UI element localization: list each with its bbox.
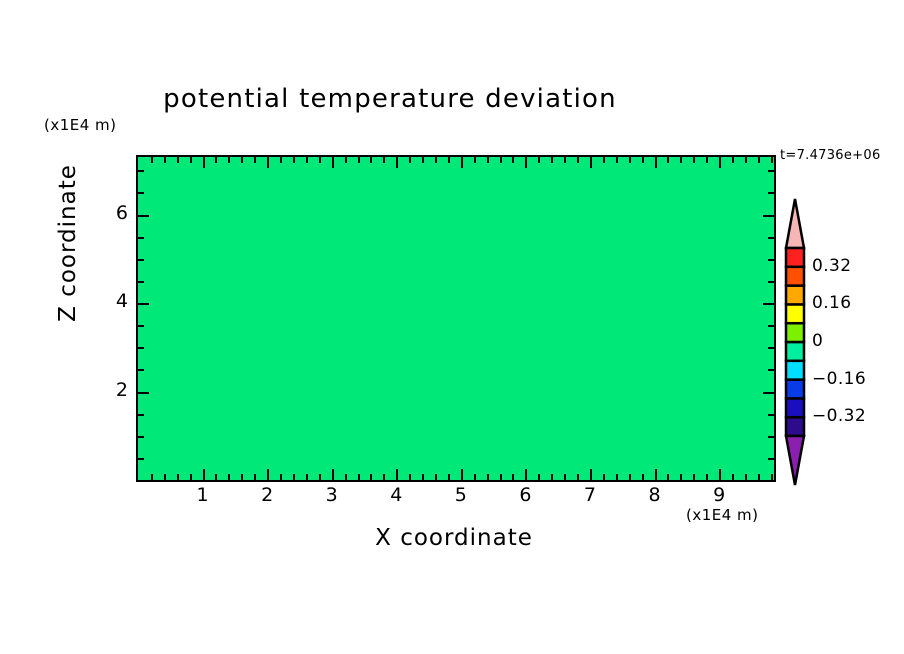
colorbar-band	[786, 267, 804, 286]
x-tick-label: 9	[699, 484, 739, 506]
y-tick-label: 4	[88, 290, 128, 312]
colorbar-band	[786, 304, 804, 323]
colorbar-band	[786, 398, 804, 417]
x-tick-label: 3	[312, 484, 352, 506]
y-tick-label: 6	[88, 202, 128, 224]
z-axis-unit-label: (x1E4 m)	[44, 116, 117, 134]
colorbar-band	[786, 380, 804, 399]
x-tick-label: 5	[441, 484, 481, 506]
contour-field-canvas	[138, 157, 774, 480]
y-axis-title: Z coordinate	[55, 153, 81, 333]
colorbar-band	[786, 286, 804, 305]
colorbar-tick-label: 0.32	[812, 256, 851, 276]
y-tick-label: 2	[88, 379, 128, 401]
colorbar-band	[786, 361, 804, 380]
x-axis-unit-label: (x1E4 m)	[686, 506, 759, 524]
x-tick-label: 8	[635, 484, 675, 506]
colorbar-band	[786, 248, 804, 267]
x-tick-label: 2	[247, 484, 287, 506]
colorbar-band	[786, 323, 804, 342]
x-tick-label: 7	[570, 484, 610, 506]
page-title: potential temperature deviation	[0, 84, 780, 114]
colorbar-tick-label: −0.16	[812, 369, 866, 389]
colorbar[interactable]	[782, 196, 808, 488]
contour-plot-area[interactable]	[136, 155, 776, 482]
colorbar-tick-label: −0.32	[812, 406, 866, 426]
colorbar-under-arrow	[786, 436, 804, 485]
x-axis-title: X coordinate	[136, 525, 772, 551]
colorbar-band	[786, 342, 804, 361]
timestamp-label: t=7.4736e+06	[780, 148, 881, 163]
colorbar-band	[786, 417, 804, 436]
colorbar-svg	[782, 196, 808, 488]
colorbar-tick-label: 0.16	[812, 293, 851, 313]
colorbar-tick-label: 0	[812, 331, 823, 351]
x-tick-label: 1	[183, 484, 223, 506]
x-tick-label: 6	[505, 484, 545, 506]
colorbar-over-arrow	[786, 199, 804, 248]
x-tick-label: 4	[376, 484, 416, 506]
